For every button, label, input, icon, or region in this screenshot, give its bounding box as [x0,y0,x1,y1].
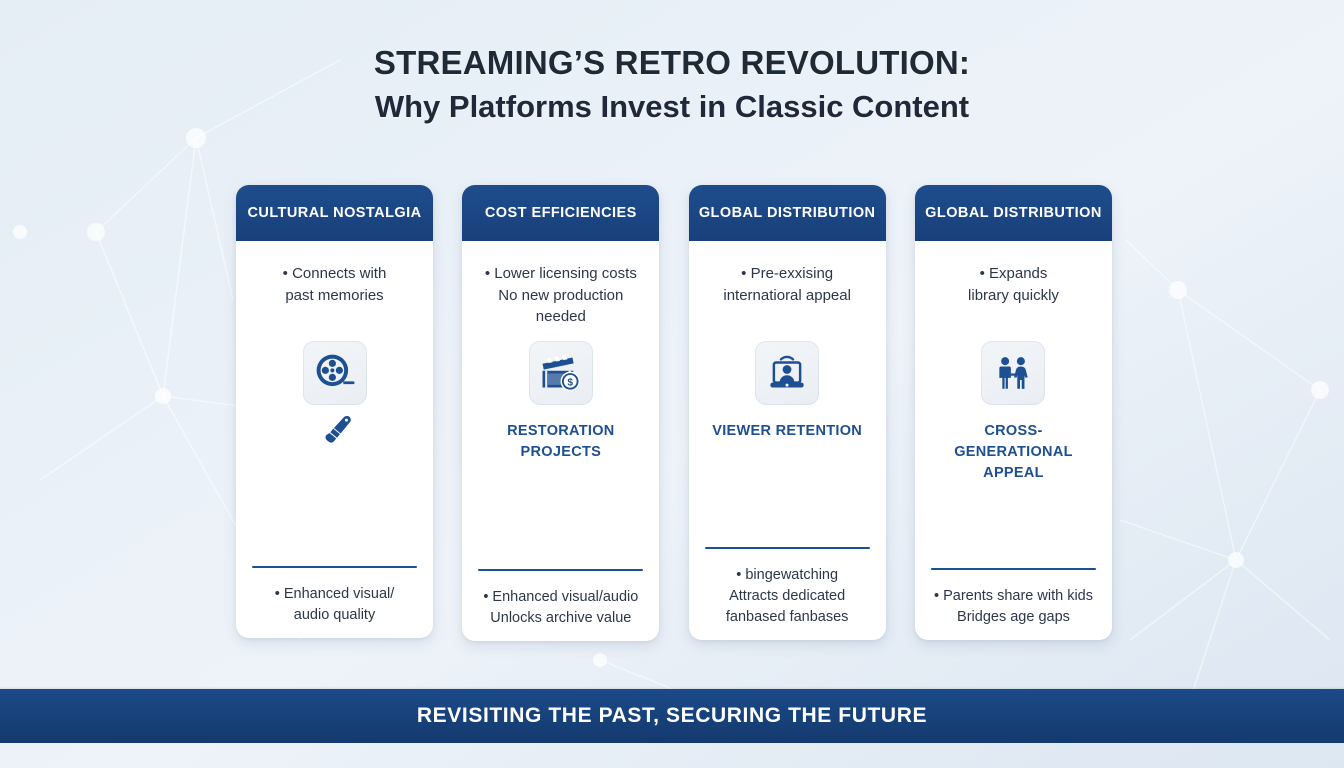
card-global-distribution-1[interactable]: GLOBAL DISTRIBUTION Pre-exxising interna… [689,185,886,640]
card-header: GLOBAL DISTRIBUTION [915,185,1112,241]
card-divider [705,547,870,549]
card-body: Pre-exxising internatioral appeal VIEWER… [689,241,886,640]
card-icon-zone: CROSS-GENERATIONAL APPEAL [927,327,1100,558]
bullet-line: Pre-exxising [701,263,874,284]
bullet-line: audio quality [248,605,421,626]
bullet-line: library quickly [927,285,1100,306]
film-reel-icon [303,341,367,405]
footer-banner: REVISITING THE PAST, SECURING THE FUTURE [0,689,1344,743]
footer-tagline: REVISITING THE PAST, SECURING THE FUTURE [417,704,927,728]
clapperboard-dollar-icon: $ [529,341,593,405]
viewer-screen-icon [755,341,819,405]
card-divider [478,569,643,571]
paintbrush-icon [317,414,353,444]
bullet-line: Connects with [248,263,421,284]
bullet-line: No new production [474,285,647,306]
card-header: GLOBAL DISTRIBUTION [689,185,886,241]
card-cultural-nostalgia[interactable]: CULTURAL NOSTALGIA Connects with past me… [236,185,433,638]
card-section-label: VIEWER RETENTION [712,421,862,442]
title-line-1: STREAMING’S RETRO REVOLUTION: [0,44,1344,83]
bullet-line: internatioral appeal [701,285,874,306]
card-top-bullets: Pre-exxising internatioral appeal [701,263,874,327]
card-header: COST EFFICIENCIES [462,185,659,241]
title-line-2: Why Platforms Invest in Classic Content [0,87,1344,127]
bullet-line: Enhanced visual/ [248,584,421,605]
card-divider [931,568,1096,570]
card-section-label: RESTORATION PROJECTS [474,421,647,462]
bullet-line: Enhanced visual/audio [474,587,647,608]
bullet-line: bingewatching [701,565,874,586]
card-icon-zone: VIEWER RETENTION [701,327,874,537]
bullet-line: Parents share with kids [927,586,1100,607]
card-bottom-bullets: Enhanced visual/ audio quality [248,584,421,638]
card-bottom-bullets: Enhanced visual/audio Unlocks archive va… [474,587,647,641]
card-cost-efficiencies[interactable]: COST EFFICIENCIES Lower licensing costs … [462,185,659,641]
cards-row: CULTURAL NOSTALGIA Connects with past me… [236,185,1112,641]
card-body: Connects with past memories [236,241,433,638]
card-section-label: CROSS-GENERATIONAL APPEAL [927,421,1100,483]
card-top-bullets: Connects with past memories [248,263,421,327]
bullet-line: past memories [248,285,421,306]
bullet-line: fanbased fanbases [701,607,874,628]
card-divider [252,566,417,568]
page-title: STREAMING’S RETRO REVOLUTION: Why Platfo… [0,44,1344,127]
bullet-line: Lower licensing costs [474,263,647,284]
bullet-line: Attracts dedicated [701,586,874,607]
two-people-icon [981,341,1045,405]
card-body: Lower licensing costs No new production … [462,241,659,641]
card-bottom-bullets: bingewatching Attracts dedicated fanbase… [701,565,874,640]
card-top-bullets: Expands library quickly [927,263,1100,327]
card-global-distribution-2[interactable]: GLOBAL DISTRIBUTION Expands library quic… [915,185,1112,640]
card-body: Expands library quickly CROSS-GENERATION… [915,241,1112,640]
svg-text:$: $ [567,378,573,389]
card-top-bullets: Lower licensing costs No new production … [474,263,647,327]
bullet-line: Unlocks archive value [474,608,647,629]
card-icon-zone: $ RESTORATION PROJECTS [474,327,647,559]
bullet-line: needed [474,306,647,327]
card-icon-zone [248,327,421,556]
card-bottom-bullets: Parents share with kids Bridges age gaps [927,586,1100,640]
card-header: CULTURAL NOSTALGIA [236,185,433,241]
bullet-line: Expands [927,263,1100,284]
bullet-line: Bridges age gaps [927,607,1100,628]
